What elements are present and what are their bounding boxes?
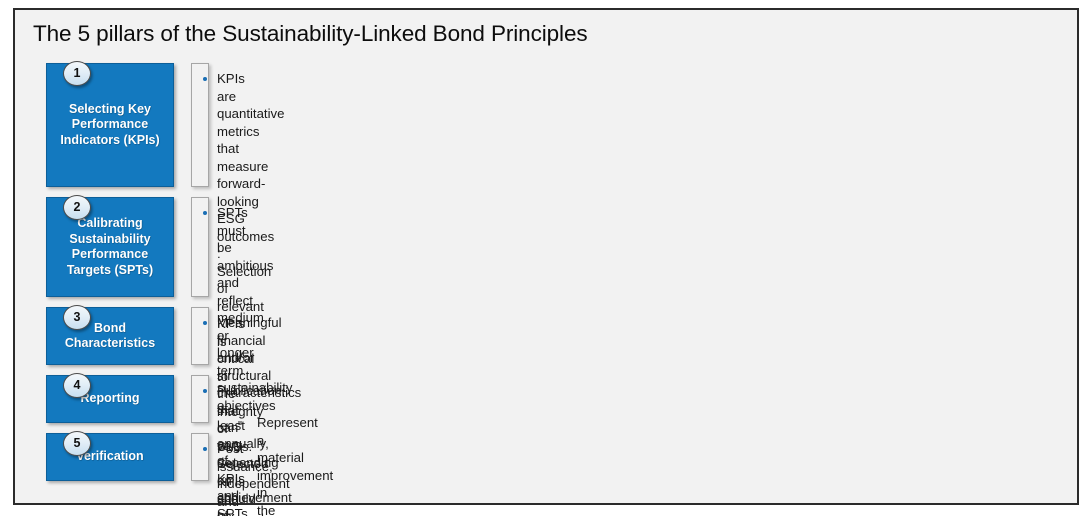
- pillar-number-badge-1: 1: [63, 61, 91, 86]
- bullet-dot-icon: [203, 77, 207, 81]
- pillar-number-badge-2: 2: [63, 195, 91, 220]
- pillar-number-2: 2: [74, 201, 81, 214]
- slide-root: The 5 pillars of the Sustainability-Link…: [0, 0, 1092, 516]
- pillar-content-1: KPIs are quantitative metrics that measu…: [191, 63, 209, 187]
- pillar-number-badge-5: 5: [63, 431, 91, 456]
- pillar-content-5: Post issuance, independent and external …: [191, 433, 209, 481]
- page-title: The 5 pillars of the Sustainability-Link…: [33, 20, 588, 48]
- pillar-label-box-4[interactable]: 4 Reporting: [46, 375, 174, 423]
- pillar-content-2: SPTs must be ambitious and reflect mediu…: [191, 197, 209, 297]
- pillar-title-1: Selecting Key Performance Indicators (KP…: [53, 102, 167, 149]
- pillar-number-badge-4: 4: [63, 373, 91, 398]
- pillar-number-5: 5: [74, 437, 81, 450]
- pillar-label-box-1[interactable]: 1 Selecting Key Performance Indicators (…: [46, 63, 174, 187]
- bullet-dot-icon: [203, 211, 207, 215]
- pillar-label-box-2[interactable]: 2 Calibrating Sustainability Performance…: [46, 197, 174, 297]
- pillar-number-3: 3: [74, 311, 81, 324]
- pillar-label-box-3[interactable]: 3 Bond Characteristics: [46, 307, 174, 365]
- pillar-title-2: Calibrating Sustainability Performance T…: [53, 216, 167, 278]
- pillar-number-4: 4: [74, 379, 81, 392]
- bullet-dot-icon: [203, 389, 207, 393]
- bullet-item: Post issuance, independent and external …: [200, 440, 217, 516]
- pillar-number-badge-3: 3: [63, 305, 91, 330]
- bullet-dot-icon: [203, 321, 207, 325]
- pillar-content-3: Meaningful financial and/or structural c…: [191, 307, 209, 365]
- pillar-label-box-5[interactable]: 5 Verification: [46, 433, 174, 481]
- slide-frame: The 5 pillars of the Sustainability-Link…: [13, 8, 1079, 505]
- pillar-number-1: 1: [74, 67, 81, 80]
- pillar-title-4: Reporting: [80, 391, 139, 407]
- pillar-content-4: Publication, at least annually, of KPIs …: [191, 375, 209, 423]
- bullet-dot-icon: [203, 447, 207, 451]
